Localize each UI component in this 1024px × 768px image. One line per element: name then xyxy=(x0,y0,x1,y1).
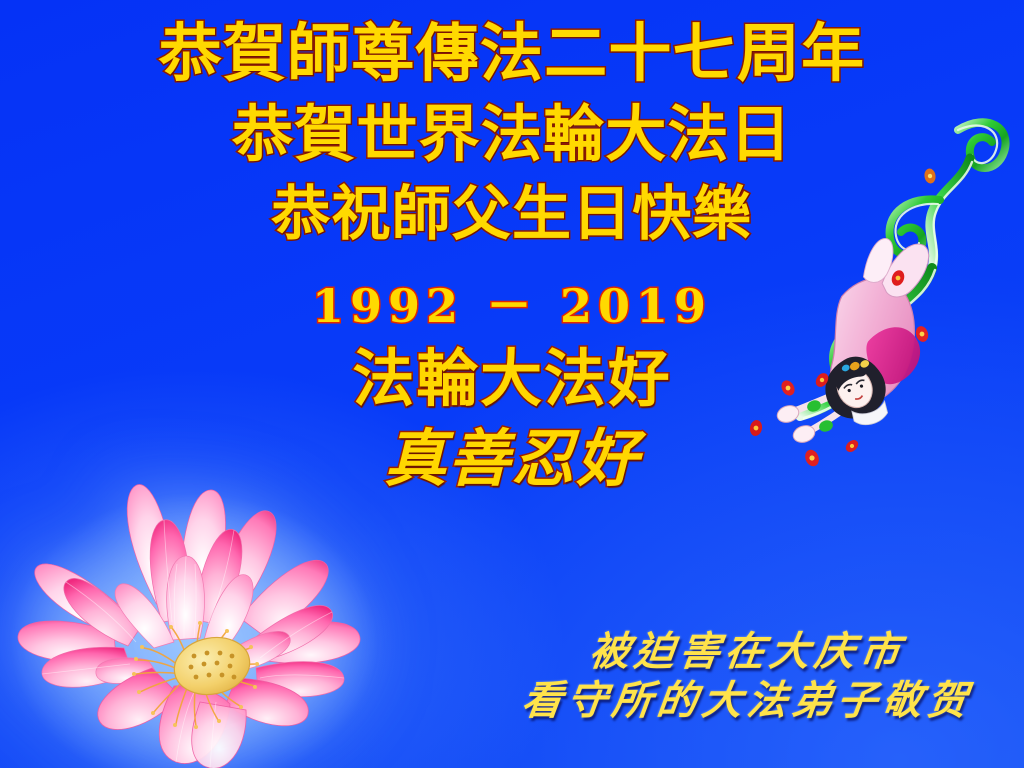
anniversary-year-range: 1992 － 2019 xyxy=(0,270,1024,336)
headline-line-1: 恭賀師尊傳法二十七周年 xyxy=(0,22,1024,85)
pink-lotus-illustration xyxy=(4,472,384,768)
greeting-card: 恭賀師尊傳法二十七周年 恭賀世界法輪大法日 恭祝師父生日快樂 1992 － 20… xyxy=(0,0,1024,768)
signature-line-2: 看守所的大法弟子敬贺 xyxy=(519,677,975,726)
slogan-zhen-shan-ren-hao: 真善忍好 xyxy=(0,428,1024,490)
headline-line-3: 恭祝師父生日快樂 xyxy=(0,184,1024,243)
headline-line-2: 恭賀世界法輪大法日 xyxy=(0,104,1024,165)
signature-block: 被迫害在大庆市 看守所的大法弟子敬贺 xyxy=(522,628,972,726)
signature-line-1: 被迫害在大庆市 xyxy=(519,628,975,677)
slogan-falun-dafa-hao: 法輪大法好 xyxy=(0,348,1024,410)
